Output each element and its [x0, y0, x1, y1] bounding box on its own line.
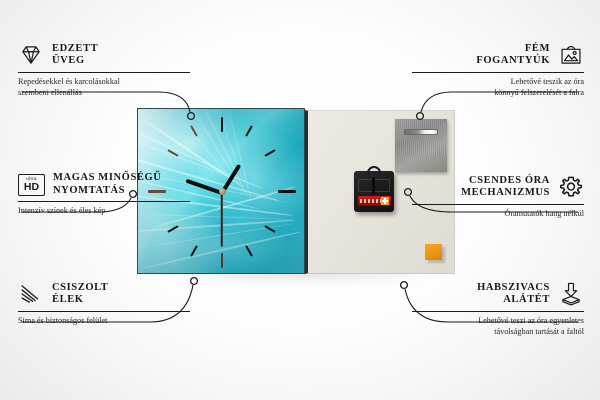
feature-title: CSISZOLT ÉLEK	[52, 282, 108, 307]
gear-icon	[558, 174, 584, 200]
divider	[18, 72, 190, 73]
divider	[412, 72, 584, 73]
polished-edge-icon	[18, 281, 44, 307]
clock-center-cap	[219, 188, 226, 195]
diamond-icon	[18, 42, 44, 68]
picture-frame-hanger-icon	[558, 42, 584, 68]
feature-title: CSENDES ÓRA MECHANIZMUS	[461, 175, 550, 200]
metal-hanger-plate	[395, 119, 447, 172]
feature-metal-handles: FÉM FOGANTYÚK Lehetővé teszik az óra kön…	[412, 42, 584, 98]
foam-pad	[425, 244, 442, 260]
feature-title: HABSZIVACS ALÁTÉT	[477, 282, 550, 307]
feature-subtitle: Lehetővé teszi az óra egyenletes távolsá…	[412, 316, 584, 337]
feature-title: MAGAS MINŐSÉGŰ NYOMTATÁS	[53, 172, 161, 197]
divider	[412, 311, 584, 312]
feature-polished-edges: CSISZOLT ÉLEK Sima és biztonságos felüle…	[18, 281, 190, 327]
feature-subtitle: Sima és biztonságos felület	[18, 316, 190, 327]
mechanism-hanging-loop	[367, 166, 381, 175]
ultra-hd-main-label: HD	[24, 182, 39, 193]
clock-minute-hand	[185, 179, 222, 195]
feature-foam-backing: HABSZIVACS ALÁTÉT Lehetővé teszi az óra …	[412, 281, 584, 337]
battery	[358, 196, 391, 206]
ultra-hd-icon: ultra HD	[18, 174, 45, 196]
feature-subtitle: Óramutatók hang nélkül	[412, 209, 584, 220]
arrow-down-pad-icon	[558, 281, 584, 307]
divider	[412, 204, 584, 205]
feature-title: FÉM FOGANTYÚK	[476, 43, 550, 68]
feature-high-quality-print: ultra HD MAGAS MINŐSÉGŰ NYOMTATÁS Intenz…	[18, 172, 190, 217]
feature-silent-mechanism: CSENDES ÓRA MECHANIZMUS Óramutatók hang …	[412, 174, 584, 220]
divider	[18, 201, 190, 202]
quartz-mechanism	[354, 171, 394, 212]
feature-subtitle: Lehetővé teszik az óra könnyű felszerelé…	[412, 77, 584, 98]
hanger-slot	[404, 129, 438, 135]
feature-subtitle: Repedésekkel és karcolásokkal szembeni e…	[18, 77, 190, 98]
infographic-canvas: EDZETT ÜVEG Repedésekkel és karcolásokka…	[0, 0, 600, 400]
divider	[18, 311, 190, 312]
feature-title: EDZETT ÜVEG	[52, 43, 98, 68]
feature-subtitle: Intenzív színek és éles kép	[18, 206, 190, 217]
feature-tempered-glass: EDZETT ÜVEG Repedésekkel és karcolásokka…	[18, 42, 190, 98]
clock-second-hand	[221, 193, 223, 247]
